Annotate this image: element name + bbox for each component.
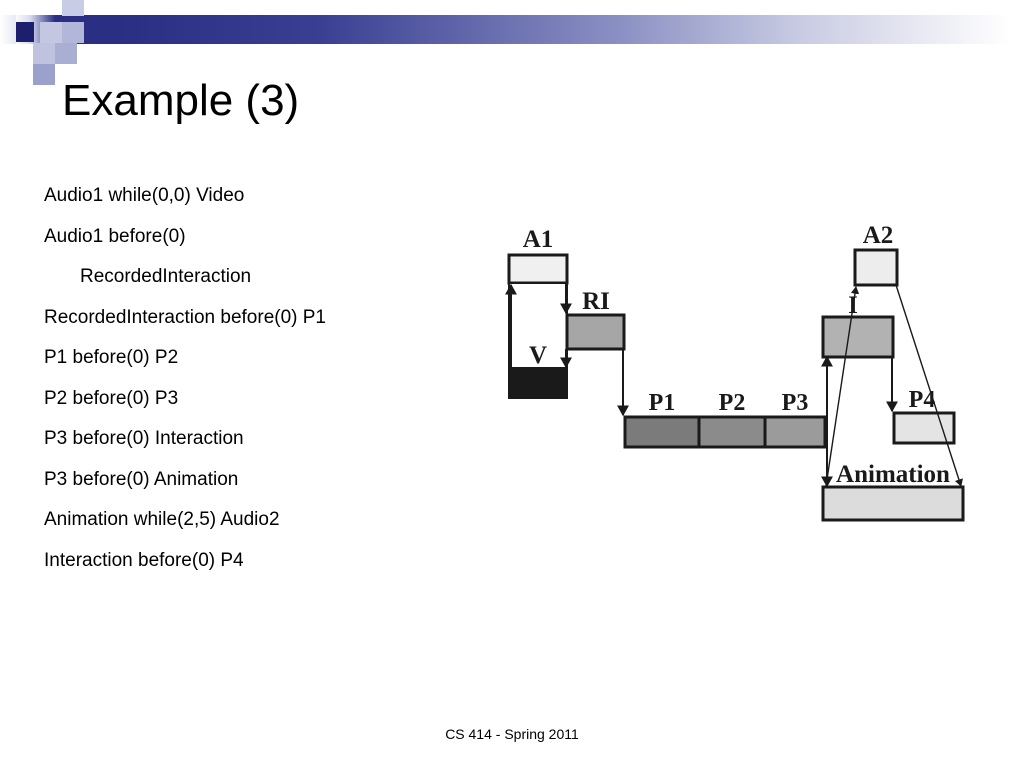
header-square-light-1 <box>40 22 62 43</box>
group-a1-video <box>509 255 567 398</box>
list-item: P2 before(0) P3 <box>44 379 474 420</box>
header-square-mid-1 <box>33 43 55 64</box>
header-square-mid-3 <box>33 64 55 85</box>
label-p2: P2 <box>719 390 746 416</box>
header-square-dark-1 <box>14 22 34 42</box>
list-item: RecordedInteraction before(0) P1 <box>44 298 474 339</box>
list-item: Interaction before(0) P4 <box>44 541 474 582</box>
timeline-diagram: A1 V RI P1 P2 P3 A2 I P4 Animation <box>495 205 995 535</box>
box-ri <box>567 315 624 349</box>
arrow-a2-to-animation <box>896 285 961 486</box>
box-a1 <box>509 255 567 283</box>
box-p2 <box>699 417 765 447</box>
box-p1 <box>625 417 699 447</box>
header-square-light-3 <box>62 0 84 16</box>
label-animation: Animation <box>836 461 950 488</box>
label-a2: A2 <box>863 222 894 249</box>
label-a1: A1 <box>523 226 554 253</box>
box-animation <box>823 487 963 520</box>
header-band-left-fade <box>0 15 16 44</box>
list-item: P3 before(0) Interaction <box>44 419 474 460</box>
label-ri: RI <box>582 288 610 315</box>
group-p-boxes <box>625 417 825 447</box>
label-p1: P1 <box>649 390 676 416</box>
bullet-list: Audio1 while(0,0) Video Audio1 before(0)… <box>44 176 474 581</box>
box-video-segment <box>509 368 567 398</box>
list-item-continuation: RecordedInteraction <box>44 257 474 298</box>
list-item: P3 before(0) Animation <box>44 460 474 501</box>
list-item: P1 before(0) P2 <box>44 338 474 379</box>
header-square-light-2 <box>62 22 84 43</box>
box-p3 <box>765 417 825 447</box>
slide-footer: CS 414 - Spring 2011 <box>0 726 1024 742</box>
list-item: Animation while(2,5) Audio2 <box>44 500 474 541</box>
label-p4: P4 <box>909 387 936 413</box>
header-gradient-bar <box>0 15 1024 44</box>
label-interaction: I <box>848 292 858 319</box>
label-p3: P3 <box>782 390 809 416</box>
box-a2 <box>855 250 897 285</box>
label-video: V <box>529 342 547 369</box>
header-decoration <box>0 0 1024 70</box>
header-square-mid-2 <box>55 43 77 64</box>
page-title: Example (3) <box>62 74 299 128</box>
list-item: Audio1 before(0) <box>44 217 474 258</box>
list-item: Audio1 while(0,0) Video <box>44 176 474 217</box>
box-interaction <box>823 317 893 357</box>
